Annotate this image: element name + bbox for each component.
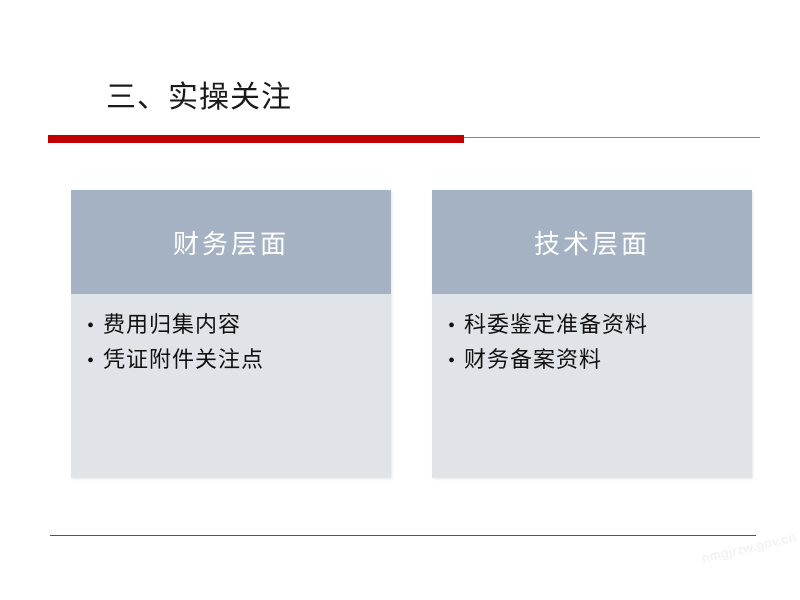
footer-divider [50,535,756,536]
panel-technology-bullet-list: • 科委鉴定准备资料 • 财务备案资料 [432,308,752,378]
page-title: 三、实操关注 [106,78,292,118]
panel-finance-header: 财务层面 [71,190,391,294]
bullet-dot-icon: • [87,309,103,343]
title-divider-red-bar [48,135,464,143]
list-item-label: 科委鉴定准备资料 [464,308,648,342]
bullet-dot-icon: • [87,344,103,378]
panel-technology: 技术层面 • 科委鉴定准备资料 • 财务备案资料 [432,190,752,478]
panel-finance-header-label: 财务层面 [173,224,289,261]
bullet-dot-icon: • [448,309,464,343]
panel-technology-header: 技术层面 [432,190,752,294]
panel-finance: 财务层面 • 费用归集内容 • 凭证附件关注点 [71,190,391,478]
list-item: • 凭证附件关注点 [71,343,391,378]
watermark: nmgjrzw.gov.cn [700,529,800,590]
panel-technology-header-label: 技术层面 [534,224,650,261]
bullet-dot-icon: • [448,344,464,378]
list-item: • 财务备案资料 [432,343,752,378]
list-item-label: 财务备案资料 [464,343,602,377]
slide-canvas: 三、实操关注 财务层面 • 费用归集内容 • 凭证附件关注点 技术层面 [0,0,800,600]
list-item-label: 凭证附件关注点 [103,343,264,377]
title-divider [48,133,760,143]
list-item: • 科委鉴定准备资料 [432,308,752,343]
panel-finance-body: • 费用归集内容 • 凭证附件关注点 [71,294,391,478]
panel-technology-body: • 科委鉴定准备资料 • 财务备案资料 [432,294,752,478]
list-item-label: 费用归集内容 [103,308,241,342]
panel-finance-bullet-list: • 费用归集内容 • 凭证附件关注点 [71,308,391,378]
list-item: • 费用归集内容 [71,308,391,343]
